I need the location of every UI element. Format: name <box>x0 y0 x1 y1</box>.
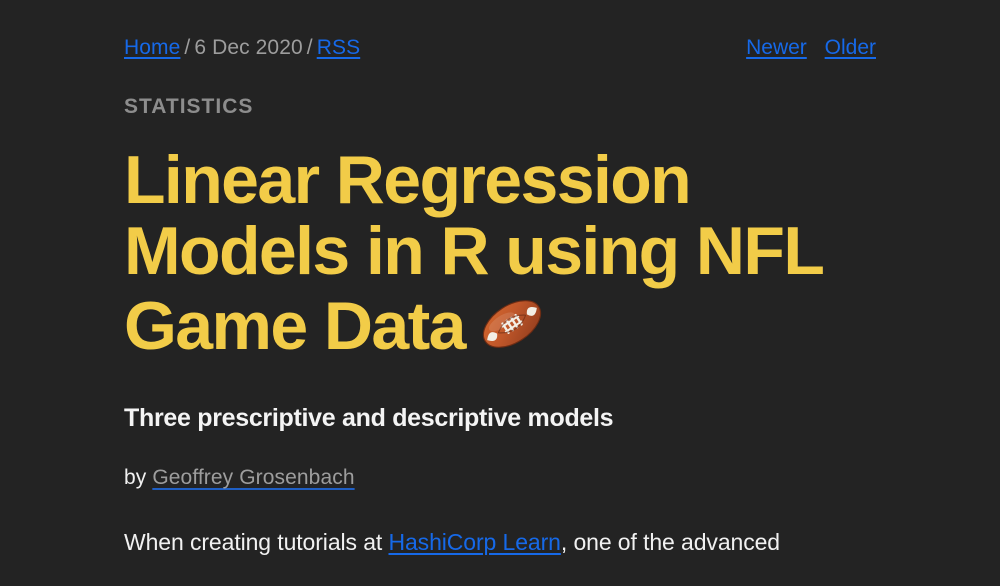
byline: by Geoffrey Grosenbach <box>124 466 876 490</box>
title-line-3: Game Data <box>124 288 465 364</box>
page-title: Linear RegressionModels in R using NFLGa… <box>124 145 876 362</box>
author-link[interactable]: Geoffrey Grosenbach <box>152 466 354 489</box>
breadcrumb-home-link[interactable]: Home <box>124 36 180 59</box>
pagination-nav: Newer Older <box>746 36 876 60</box>
article-category[interactable]: STATISTICS <box>124 95 876 119</box>
breadcrumb-separator-1: / <box>184 36 190 59</box>
byline-prefix: by <box>124 466 146 489</box>
breadcrumb-rss-link[interactable]: RSS <box>317 36 360 59</box>
hashicorp-learn-link[interactable]: HashiCorp Learn <box>388 529 560 555</box>
topbar: Home/6 Dec 2020/RSS Newer Older <box>124 0 876 60</box>
older-post-link[interactable]: Older <box>825 36 876 59</box>
body-text-after-link: , one of the advanced <box>561 529 780 555</box>
newer-post-link[interactable]: Newer <box>746 36 807 59</box>
title-line-1: Linear Regression <box>124 142 690 218</box>
article-subtitle: Three prescriptive and descriptive model… <box>124 404 876 433</box>
breadcrumb: Home/6 Dec 2020/RSS <box>124 36 360 60</box>
breadcrumb-date: 6 Dec 2020 <box>194 36 302 59</box>
breadcrumb-separator-2: / <box>307 36 313 59</box>
article-page: Home/6 Dec 2020/RSS Newer Older STATISTI… <box>0 0 1000 586</box>
title-line-2: Models in R using NFL <box>124 213 823 289</box>
body-text-before-link: When creating tutorials at <box>124 529 388 555</box>
american-football-icon <box>475 287 549 361</box>
article-body-paragraph: When creating tutorials at HashiCorp Lea… <box>124 525 824 560</box>
